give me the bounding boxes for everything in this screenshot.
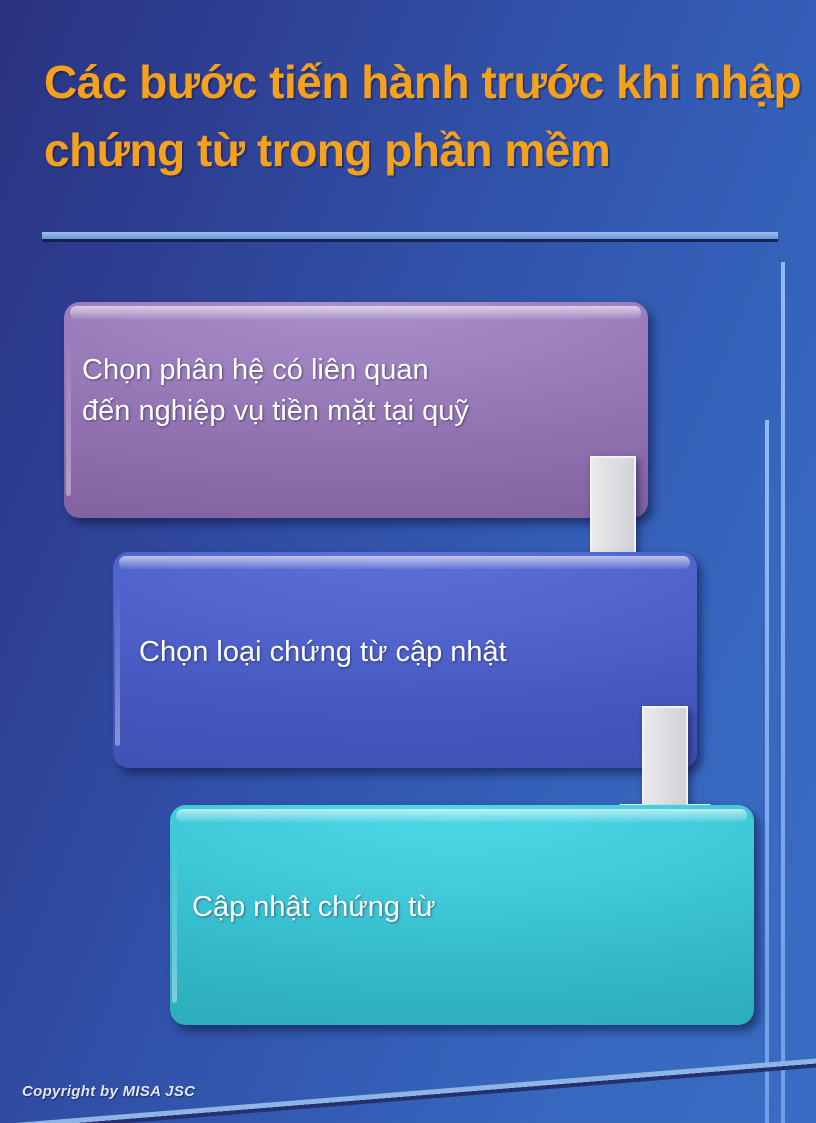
- box-top-gloss: [119, 556, 690, 569]
- process-box-step-1[interactable]: Chọn phân hệ có liên quan đến nghiệp vụ …: [64, 302, 648, 518]
- box-top-gloss: [176, 809, 747, 822]
- process-box-step-1-label: Chọn phân hệ có liên quan đến nghiệp vụ …: [82, 350, 469, 432]
- box-side-highlight: [66, 341, 71, 497]
- slide-title-line-2: chứng từ trong phần mềm: [44, 116, 784, 184]
- slide-canvas: Các bước tiến hành trước khi nhập chứng …: [0, 0, 816, 1123]
- process-box-step-2[interactable]: Chọn loại chứng từ cập nhật: [113, 552, 697, 768]
- slide-title: Các bước tiến hành trước khi nhập chứng …: [44, 48, 784, 184]
- box-top-gloss: [70, 306, 641, 319]
- decorative-vertical-line-inner: [765, 420, 769, 1123]
- box-side-highlight: [172, 845, 177, 1003]
- process-box-step-3-label: Cập nhật chứng từ: [192, 887, 436, 928]
- decorative-vertical-line-outer: [781, 262, 785, 1123]
- box-side-highlight: [115, 591, 120, 747]
- footer-copyright: Copyright by MISA JSC: [22, 1083, 195, 1100]
- slide-title-line-1: Các bước tiến hành trước khi nhập: [44, 48, 784, 116]
- title-divider-rule: [42, 232, 778, 239]
- process-box-step-3[interactable]: Cập nhật chứng từ: [170, 805, 754, 1025]
- process-box-step-2-label: Chọn loại chứng từ cập nhật: [139, 632, 507, 673]
